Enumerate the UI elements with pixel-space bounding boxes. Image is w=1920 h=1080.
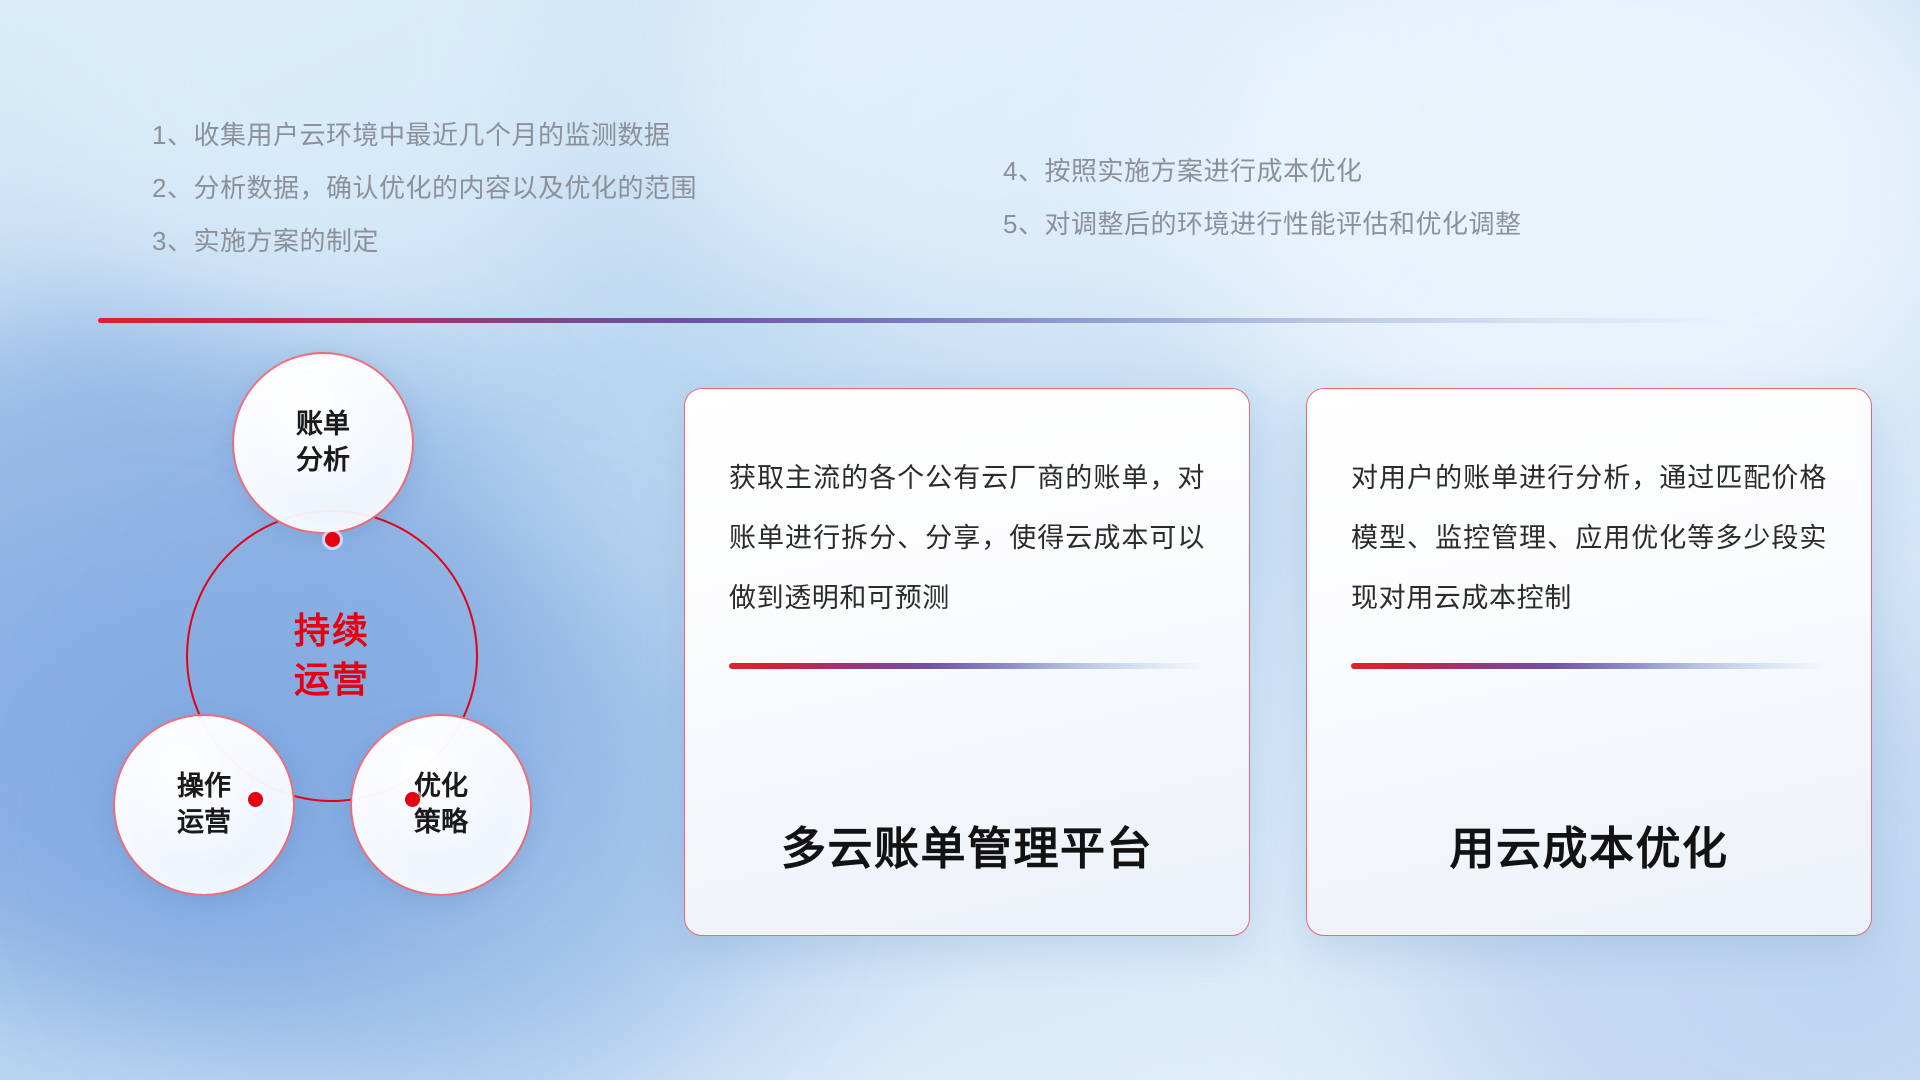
step-item: 2、分析数据，确认优化的内容以及优化的范围 [152, 175, 697, 201]
center-label-line-2: 运营 [294, 656, 370, 705]
steps-left-column: 1、收集用户云环境中最近几个月的监测数据 2、分析数据，确认优化的内容以及优化的… [152, 122, 697, 254]
section-divider [98, 318, 1858, 323]
card-title: 多云账单管理平台 [729, 812, 1205, 877]
diagram-bubble-bill-analysis[interactable]: 账单 分析 [232, 352, 414, 534]
bubble-label-line-2: 策略 [414, 805, 468, 841]
step-item: 1、收集用户云环境中最近几个月的监测数据 [152, 122, 697, 148]
slide-root: 1、收集用户云环境中最近几个月的监测数据 2、分析数据，确认优化的内容以及优化的… [0, 0, 1920, 1080]
card-multicloud-billing-platform[interactable]: 获取主流的各个公有云厂商的账单，对账单进行拆分、分享，使得云成本可以做到透明和可… [684, 388, 1250, 936]
diagram-bubble-operations[interactable]: 操作 运营 [113, 714, 295, 896]
node-dot-icon [248, 792, 263, 807]
bubble-label-line-1: 操作 [177, 769, 231, 805]
bubble-label-line-2: 分析 [296, 443, 350, 479]
bubble-label-line-2: 运营 [177, 805, 231, 841]
node-dot-icon [325, 532, 340, 547]
step-item: 4、按照实施方案进行成本优化 [1003, 158, 1521, 184]
step-item: 3、实施方案的制定 [152, 228, 697, 254]
card-cloud-cost-optimization[interactable]: 对用户的账单进行分析，通过匹配价格模型、监控管理、应用优化等多少段实现对用云成本… [1306, 388, 1872, 936]
card-divider [729, 663, 1205, 669]
steps-right-column: 4、按照实施方案进行成本优化 5、对调整后的环境进行性能评估和优化调整 [1003, 158, 1521, 237]
card-divider [1351, 663, 1827, 669]
card-body-text: 对用户的账单进行分析，通过匹配价格模型、监控管理、应用优化等多少段实现对用云成本… [1351, 449, 1827, 629]
continuous-operation-diagram: 持续 运营 账单 分析 操作 运营 优化 策略 [100, 352, 640, 952]
bubble-label-line-1: 优化 [414, 769, 468, 805]
bubble-label-line-1: 账单 [296, 407, 350, 443]
card-title: 用云成本优化 [1351, 812, 1827, 877]
center-label-line-1: 持续 [294, 607, 370, 656]
node-dot-icon [405, 792, 420, 807]
step-item: 5、对调整后的环境进行性能评估和优化调整 [1003, 211, 1521, 237]
diagram-bubble-optimization-strategy[interactable]: 优化 策略 [350, 714, 532, 896]
card-body-text: 获取主流的各个公有云厂商的账单，对账单进行拆分、分享，使得云成本可以做到透明和可… [729, 449, 1205, 629]
